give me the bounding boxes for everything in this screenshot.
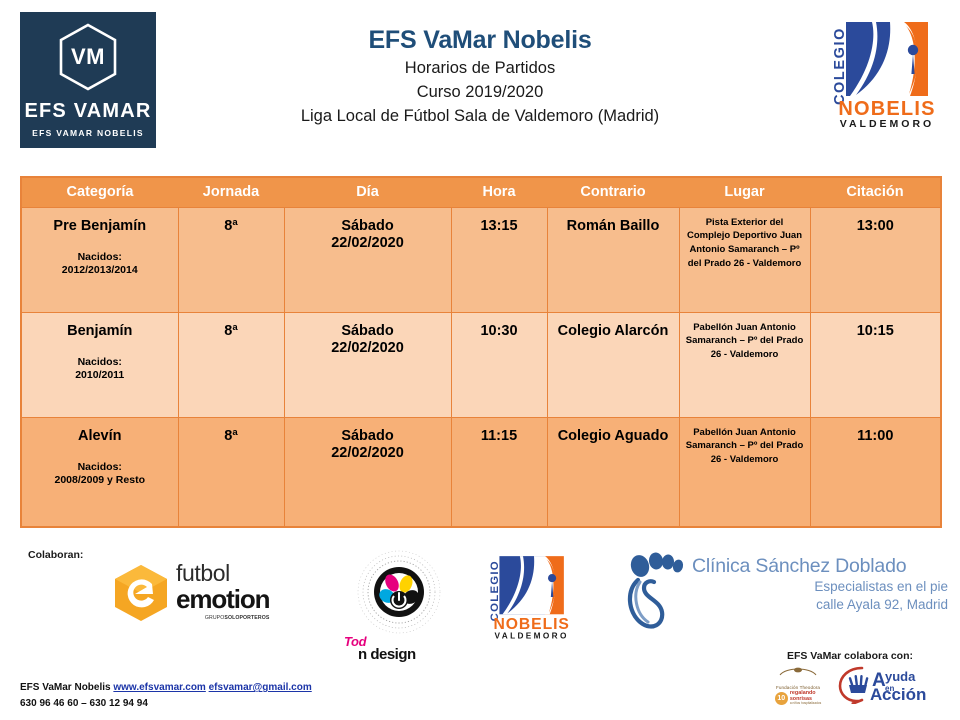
categoria-nacidos-years: 2008/2009 y Resto — [22, 474, 178, 487]
cell-hora: 13:15 — [451, 207, 547, 312]
futbol-emotion-line2: emotion — [176, 586, 269, 612]
categoria-nacidos-years: 2010/2011 — [22, 369, 178, 382]
header-subtitle-2: Curso 2019/2020 — [180, 81, 780, 103]
svg-text:A: A — [870, 685, 882, 704]
todo-en-design-ondesign: n design — [358, 646, 458, 663]
colabora-label: EFS VaMar colabora con: — [752, 650, 948, 662]
lugar-value: Pabellón Juan Antonio Samaranch – Pº del… — [680, 321, 810, 362]
column-header-citacion: Citación — [810, 177, 941, 207]
grupo-name: SOLOPORTEROS — [224, 615, 269, 621]
clinica-wordmark: Clínica Sánchez Doblado Especialistas en… — [692, 556, 948, 614]
hora-value: 13:15 — [452, 218, 547, 234]
futbol-emotion-hexagon-icon — [112, 564, 170, 622]
cell-hora: 11:15 — [451, 417, 547, 527]
contrario-value: Román Baillo — [548, 218, 679, 235]
fundacion-theodora-logo: Fundación Theodora 10 regalando sonrisas… — [766, 664, 830, 704]
cell-lugar: Pabellón Juan Antonio Samaranch – Pº del… — [679, 312, 810, 417]
colaboran-label: Colaboran: — [28, 549, 83, 561]
contrario-value: Colegio Aguado — [548, 428, 679, 445]
cell-jornada: 8ª — [178, 207, 284, 312]
dia-day: Sábado — [285, 428, 451, 445]
table-header-row: Categoría Jornada Día Hora Contrario Lug… — [21, 177, 941, 207]
cell-categoria: Pre Benjamín Nacidos: 2012/2013/2014 — [21, 207, 178, 312]
svg-text:VALDEMORO: VALDEMORO — [495, 632, 569, 641]
footer-contact-line1: EFS VaMar Nobelis www.efsvamar.com efsva… — [20, 681, 312, 696]
column-header-lugar: Lugar — [679, 177, 810, 207]
column-header-categoria: Categoría — [21, 177, 178, 207]
todo-en-design-logo: Tod n design — [340, 548, 458, 658]
footer-phones: 630 96 46 60 – 630 12 94 94 — [20, 697, 312, 712]
email-link[interactable]: efsvamar@gmail.com — [209, 682, 312, 693]
cell-dia: Sábado 22/02/2020 — [284, 417, 451, 527]
website-link[interactable]: www.efsvamar.com — [113, 682, 205, 693]
clinica-sanchez-doblado-logo: Clínica Sánchez Doblado Especialistas en… — [618, 552, 948, 638]
fundacion-tagline: 10 regalando sonrisas a niños hospitaliz… — [766, 691, 830, 706]
jornada-value: 8ª — [179, 428, 284, 445]
clinica-address: calle Ayala 92, Madrid — [692, 596, 948, 614]
futbol-emotion-grupo: GRUPOSOLOPORTEROS — [176, 615, 269, 621]
svg-text:cción: cción — [882, 685, 926, 704]
page-title: EFS VaMar Nobelis — [180, 26, 780, 55]
table-row: Alevín Nacidos: 2008/2009 y Resto 8ª Sáb… — [21, 417, 941, 527]
hora-value: 10:30 — [452, 323, 547, 339]
hexagon-icon: VM — [56, 22, 120, 92]
anniversary-badge: 10 — [775, 692, 788, 705]
dia-day: Sábado — [285, 323, 451, 340]
lugar-value: Pista Exterior del Complejo Deportivo Ju… — [680, 216, 810, 271]
column-header-contrario: Contrario — [547, 177, 679, 207]
schedule-table: Categoría Jornada Día Hora Contrario Lug… — [20, 176, 942, 528]
vamar-logo-subtitle: EFS VAMAR NOBELIS — [32, 128, 144, 138]
svg-text:NOBELIS: NOBELIS — [838, 98, 935, 120]
lugar-value: Pabellón Juan Antonio Samaranch – Pº del… — [680, 426, 810, 467]
cell-contrario: Colegio Alarcón — [547, 312, 679, 417]
svg-text:NOBELIS: NOBELIS — [493, 616, 569, 633]
cell-categoria: Alevín Nacidos: 2008/2009 y Resto — [21, 417, 178, 527]
jornada-value: 8ª — [179, 218, 284, 235]
cell-jornada: 8ª — [178, 312, 284, 417]
cell-contrario: Colegio Aguado — [547, 417, 679, 527]
vamar-initials: VM — [56, 22, 120, 92]
column-header-hora: Hora — [451, 177, 547, 207]
footer-club-name: EFS VaMar Nobelis — [20, 682, 111, 693]
citacion-value: 13:00 — [811, 218, 941, 234]
citacion-value: 10:15 — [811, 323, 941, 339]
citacion-value: 11:00 — [811, 428, 941, 444]
colegio-nobelis-logo-header: COLEGIO NOBELIS VALDEMORO — [806, 16, 946, 132]
cell-categoria: Benjamín Nacidos: 2010/2011 — [21, 312, 178, 417]
dia-date: 22/02/2020 — [285, 340, 451, 357]
todo-en-design-wordmark: Tod n design — [344, 634, 458, 663]
dia-date: 22/02/2020 — [285, 445, 451, 462]
dia-day: Sábado — [285, 218, 451, 235]
vamar-logo-name: EFS VAMAR — [24, 100, 151, 122]
footprint-icon — [618, 552, 690, 638]
hora-value: 11:15 — [452, 428, 547, 444]
cell-citacion: 11:00 — [810, 417, 941, 527]
clinica-tagline: Especialistas en el pie — [692, 578, 948, 596]
schedule-poster: VM EFS VAMAR EFS VAMAR NOBELIS EFS VaMar… — [0, 0, 960, 720]
ayuda-en-accion-logo: A yuda en A cción — [836, 664, 948, 704]
futbol-emotion-line1: futbol — [176, 562, 269, 585]
column-header-jornada: Jornada — [178, 177, 284, 207]
fundacion-line3: a niños hospitalizados — [790, 702, 821, 706]
categoria-nacidos-label: Nacidos: — [22, 461, 178, 474]
categoria-nacidos-label: Nacidos: — [22, 251, 178, 264]
cell-citacion: 10:15 — [810, 312, 941, 417]
cell-jornada: 8ª — [178, 417, 284, 527]
clinica-name: Clínica Sánchez Doblado — [692, 556, 948, 576]
futbol-emotion-wordmark: futbol emotion GRUPOSOLOPORTEROS — [176, 562, 269, 621]
clown-line-icon — [766, 664, 830, 679]
table-row: Benjamín Nacidos: 2010/2011 8ª Sábado 22… — [21, 312, 941, 417]
colabora-block: EFS VaMar colabora con: Fundación Theodo… — [752, 650, 948, 704]
todo-en-design-burst-icon — [340, 548, 458, 640]
categoria-nacidos-label: Nacidos: — [22, 356, 178, 369]
cell-contrario: Román Baillo — [547, 207, 679, 312]
cell-citacion: 13:00 — [810, 207, 941, 312]
cell-lugar: Pabellón Juan Antonio Samaranch – Pº del… — [679, 417, 810, 527]
cell-dia: Sábado 22/02/2020 — [284, 312, 451, 417]
categoria-nacidos-years: 2012/2013/2014 — [22, 264, 178, 277]
contrario-value: Colegio Alarcón — [548, 323, 679, 340]
table-row: Pre Benjamín Nacidos: 2012/2013/2014 8ª … — [21, 207, 941, 312]
cell-lugar: Pista Exterior del Complejo Deportivo Ju… — [679, 207, 810, 312]
header-subtitle-3: Liga Local de Fútbol Sala de Valdemoro (… — [180, 105, 780, 127]
svg-text:yuda: yuda — [885, 669, 916, 684]
jornada-value: 8ª — [179, 323, 284, 340]
colegio-nobelis-logo-footer: COLEGIO NOBELIS VALDEMORO — [468, 551, 578, 643]
fundacion-lines: regalando sonrisas a niños hospitalizado… — [790, 691, 821, 706]
svg-text:COLEGIO: COLEGIO — [489, 560, 501, 621]
categoria-name: Pre Benjamín — [22, 218, 178, 235]
cell-dia: Sábado 22/02/2020 — [284, 207, 451, 312]
categoria-name: Alevín — [22, 428, 178, 445]
svg-text:VALDEMORO: VALDEMORO — [840, 118, 934, 130]
svg-text:COLEGIO: COLEGIO — [832, 27, 848, 105]
efs-vamar-logo: VM EFS VAMAR EFS VAMAR NOBELIS — [20, 12, 156, 148]
footer-contact: EFS VaMar Nobelis www.efsvamar.com efsva… — [20, 681, 312, 711]
header-subtitle-1: Horarios de Partidos — [180, 57, 780, 79]
cell-hora: 10:30 — [451, 312, 547, 417]
grupo-prefix: GRUPO — [205, 615, 225, 621]
poster-header: EFS VaMar Nobelis Horarios de Partidos C… — [180, 26, 780, 127]
column-header-dia: Día — [284, 177, 451, 207]
futbol-emotion-logo: futbol emotion GRUPOSOLOPORTEROS — [112, 562, 308, 624]
dia-date: 22/02/2020 — [285, 235, 451, 252]
categoria-name: Benjamín — [22, 323, 178, 340]
colabora-logos: Fundación Theodora 10 regalando sonrisas… — [752, 664, 948, 704]
